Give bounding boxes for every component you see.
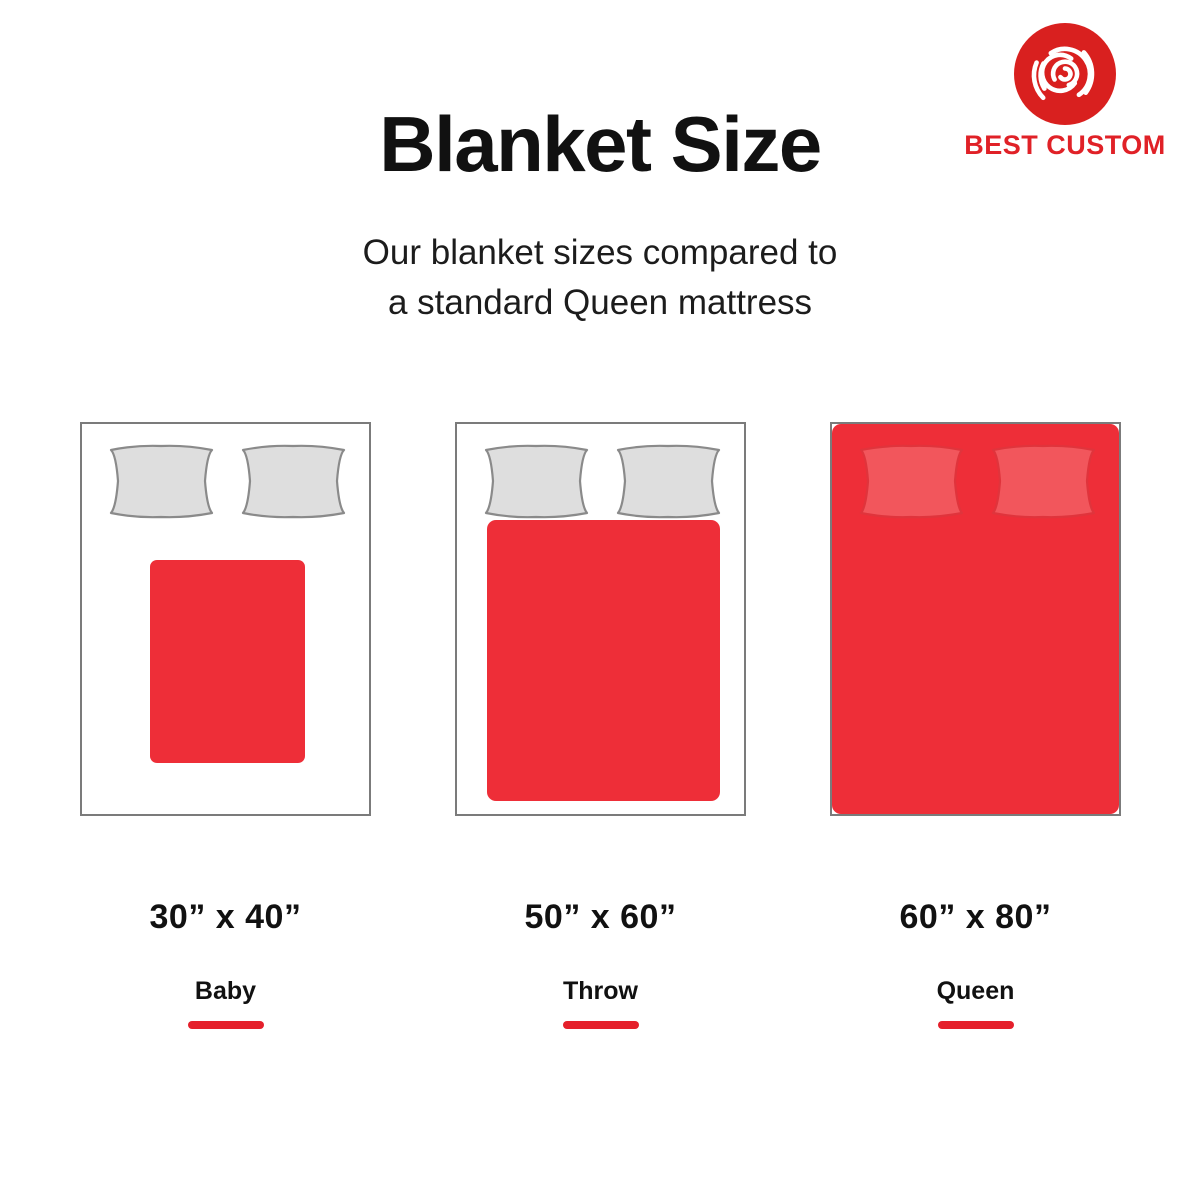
accent-rule <box>188 1021 264 1029</box>
blanket-size-infographic: BEST CUSTOM Blanket Size Our blanket siz… <box>0 0 1200 1200</box>
pillow-left-icon <box>856 444 967 519</box>
pillow-right-icon <box>613 444 724 519</box>
caption-throw: 50” x 60” Throw <box>455 900 746 1029</box>
bed-diagram-throw <box>455 422 746 816</box>
accent-rule <box>938 1021 1014 1029</box>
bed-diagram-row <box>0 422 1200 822</box>
caption-baby: 30” x 40” Baby <box>80 900 371 1029</box>
blanket-rect-throw <box>487 520 720 801</box>
bed-caption-row: 30” x 40” Baby 50” x 60” Throw 60” x 80”… <box>0 900 1200 1040</box>
caption-queen: 60” x 80” Queen <box>830 900 1121 1029</box>
mattress-outline-baby <box>80 422 371 816</box>
size-dimensions: 50” x 60” <box>455 900 746 934</box>
size-name: Baby <box>80 979 371 1004</box>
bed-diagram-queen <box>830 422 1121 816</box>
subtitle-line-2: a standard Queen mattress <box>0 278 1200 328</box>
pillow-right-icon <box>988 444 1099 519</box>
mattress-outline-queen <box>830 422 1121 816</box>
subtitle-line-1: Our blanket sizes compared to <box>0 228 1200 278</box>
size-name: Queen <box>830 979 1121 1004</box>
size-dimensions: 30” x 40” <box>80 900 371 934</box>
page-title: Blanket Size <box>0 104 1200 186</box>
mattress-outline-throw <box>455 422 746 816</box>
pillow-left-icon <box>481 444 592 519</box>
size-dimensions: 60” x 80” <box>830 900 1121 934</box>
pillow-right-icon <box>238 444 349 519</box>
size-name: Throw <box>455 979 746 1004</box>
pillow-left-icon <box>106 444 217 519</box>
bed-diagram-baby <box>80 422 371 816</box>
blanket-rect-baby <box>150 560 305 763</box>
accent-rule <box>563 1021 639 1029</box>
page-subtitle: Our blanket sizes compared to a standard… <box>0 228 1200 327</box>
